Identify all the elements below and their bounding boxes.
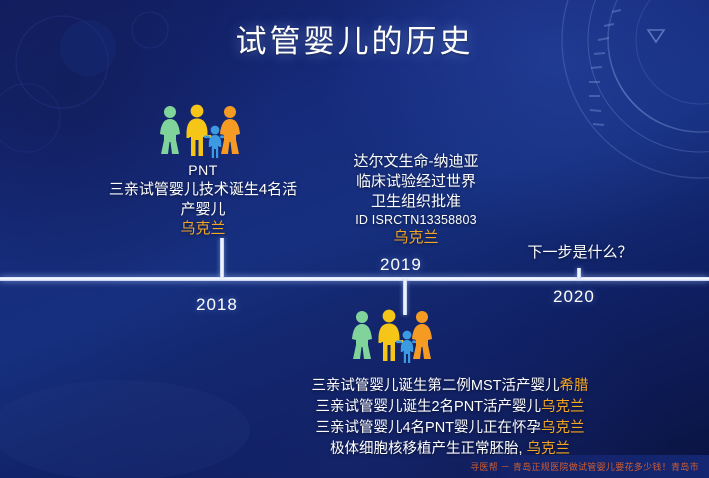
bottom-row-1-text: 三亲试管婴儿诞生第二例MST活产婴儿 bbox=[311, 378, 559, 394]
event-2019-text-line3: 卫生组织批准 bbox=[330, 192, 502, 212]
event-2018-text-line1: 三亲试管婴儿技术诞生4名活 bbox=[88, 180, 318, 200]
event-2018-label: PNT bbox=[88, 161, 318, 180]
event-2019-trial-id: ID ISRCTN13358803 bbox=[330, 212, 502, 229]
event-2018-country: 乌克兰 bbox=[88, 219, 318, 239]
bottom-row-3-text: 三亲试管婴儿4名PNT婴儿正在怀孕 bbox=[315, 420, 541, 436]
timeline-connector-2018 bbox=[220, 238, 224, 278]
page-title: 试管婴儿的历史 bbox=[0, 16, 709, 61]
event-2019-text-line1: 达尔文生命-纳迪亚 bbox=[330, 152, 502, 172]
bottom-row-1: 三亲试管婴儿诞生第二例MST活产婴儿希腊 bbox=[270, 376, 630, 397]
family-group-icon-top bbox=[158, 104, 242, 165]
bottom-row-3-country: 乌克兰 bbox=[541, 420, 585, 436]
timeline-axis bbox=[0, 277, 709, 281]
timeline-tick-2020 bbox=[577, 268, 581, 279]
event-2018-text-line2: 产婴儿 bbox=[88, 200, 318, 220]
slide-canvas: 试管婴儿的历史 2018 2019 2020 bbox=[0, 0, 709, 478]
event-2019-text-line2: 临床试验经过世界 bbox=[330, 172, 502, 192]
event-block-2018: PNT 三亲试管婴儿技术诞生4名活 产婴儿 乌克兰 bbox=[88, 161, 318, 239]
bottom-row-2: 三亲试管婴儿诞生2名PNT活产婴儿乌克兰 bbox=[270, 397, 630, 418]
timeline-year-2018: 2018 bbox=[196, 295, 238, 315]
next-step-question: 下一步是什么？ bbox=[500, 243, 660, 263]
bottom-row-2-text: 三亲试管婴儿诞生2名PNT活产婴儿 bbox=[315, 399, 541, 415]
timeline-year-2020: 2020 bbox=[553, 287, 595, 307]
event-block-2020: 下一步是什么？ bbox=[500, 243, 660, 263]
event-block-2019-lower: 三亲试管婴儿诞生第二例MST活产婴儿希腊 三亲试管婴儿诞生2名PNT活产婴儿乌克… bbox=[270, 376, 630, 460]
bottom-row-2-country: 乌克兰 bbox=[541, 399, 585, 415]
bottom-row-1-country: 希腊 bbox=[560, 378, 589, 394]
watermark-text: 寻医帮 － 青岛正规医院做试管婴儿要花多少钱！青岛市 bbox=[470, 460, 699, 473]
family-group-icon-bottom bbox=[350, 309, 434, 370]
event-2019-country: 乌克兰 bbox=[330, 228, 502, 248]
bottom-row-3: 三亲试管婴儿4名PNT婴儿正在怀孕乌克兰 bbox=[270, 418, 630, 439]
timeline-year-2019: 2019 bbox=[380, 255, 422, 275]
watermark-bar: 寻医帮 － 青岛正规医院做试管婴儿要花多少钱！青岛市 bbox=[460, 455, 709, 478]
event-block-2019-upper: 达尔文生命-纳迪亚 临床试验经过世界 卫生组织批准 ID ISRCTN13358… bbox=[330, 152, 502, 248]
